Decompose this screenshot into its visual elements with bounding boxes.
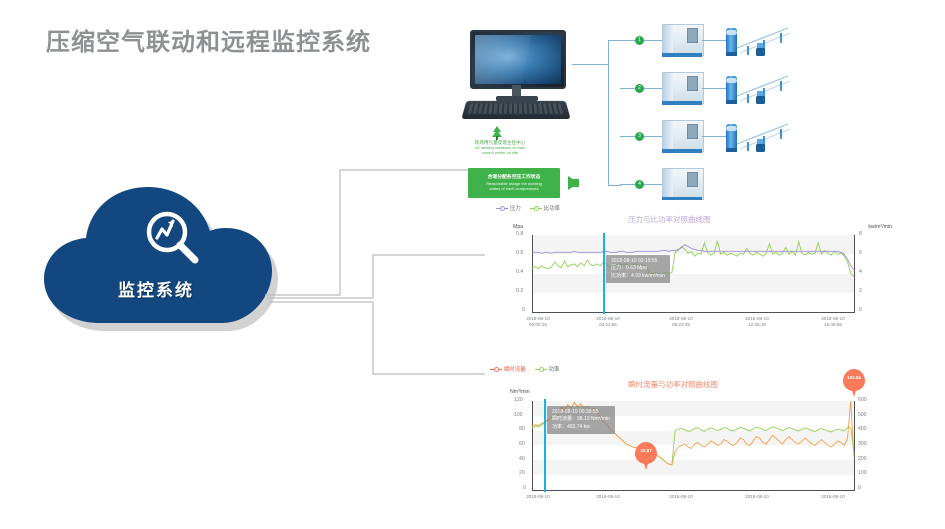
pressure-chart-legend[interactable]: 压力 比功率 <box>496 204 560 212</box>
page-title: 压缩空气联动和远程监控系统 <box>46 22 371 57</box>
flow-y2tick-300: 300 <box>858 441 867 447</box>
y2tick-0: 0 <box>859 307 862 313</box>
compressor-display-panel <box>687 28 698 43</box>
pressure-tooltip-line1: 压力：0.63 Mpa <box>611 265 665 272</box>
pressure-tooltip: 2018-08-10 02:19:55 压力：0.63 Mpa 比功率：4.99… <box>606 255 670 283</box>
monitor-screen-content <box>475 35 561 84</box>
flow-ytick-80: 80 <box>519 426 525 432</box>
xtick-1-time: 04:11:55 <box>578 322 638 328</box>
pipeline-network-1 <box>726 22 800 62</box>
y2tick-2: 2 <box>859 288 862 294</box>
xtick-3: 2018-08-10 12:35:15 <box>727 316 787 328</box>
monitor-caption: 现场用气量反馈主控中心 Air delivery feedback of mai… <box>448 140 552 155</box>
node-3: 3 <box>635 132 644 141</box>
pressure-y2-axis-unit: kw/m³/min <box>868 224 892 230</box>
compressor-1 <box>662 24 702 57</box>
flow-marker-min[interactable]: 33.87 <box>635 442 657 470</box>
marker-bubble <box>635 442 657 464</box>
pressure-chart[interactable]: 压力 比功率 压力与比功率对照曲线图 Mpa kw/m³/min 0.8 0.6… <box>488 200 888 335</box>
distribution-bus <box>608 40 621 186</box>
xtick-4-time: 16:46:55 <box>803 322 863 328</box>
flow-cursor-line[interactable] <box>544 399 546 492</box>
legend-item-power[interactable]: 功率 <box>535 365 560 373</box>
monitor-bus-link <box>572 64 609 65</box>
legend-item-specific-power[interactable]: 比功率 <box>530 204 560 212</box>
flow-chart-legend[interactable]: 瞬时流量 功率 <box>490 365 559 373</box>
legend-label-specific-power: 比功率 <box>544 204 560 212</box>
assignment-callout-en-2: states of each compressors <box>490 186 539 191</box>
ytick-0-4: 0.4 <box>516 269 523 275</box>
ytick-0-8: 0.8 <box>516 231 523 237</box>
tree-icon <box>491 126 503 140</box>
flow-marker-max[interactable]: 130.55 <box>843 369 865 397</box>
compressor-tank-link-3 <box>702 136 726 137</box>
flow-y-axis-unit: Nm³/min <box>510 389 530 395</box>
cloud-label: 监控系统 <box>38 276 274 301</box>
compressor-tank-link-1 <box>702 40 726 41</box>
flow-xtick-3: 2018-08-10 <box>727 494 787 500</box>
compressor-side-panel <box>663 73 673 101</box>
compressor-side-panel <box>663 121 673 149</box>
flow-xtick-2: 2018-08-10 <box>651 494 711 500</box>
flow-chart[interactable]: 瞬时流量 功率 瞬时流量与功率对照曲线图 Nm³/min 120 100 80 … <box>488 363 888 529</box>
flow-tooltip-line1: 瞬时流量：98.13 Nm³/min <box>552 416 610 423</box>
keyboard <box>461 101 570 119</box>
flow-xtick-4: 2018-08-10 <box>803 494 863 500</box>
compressor-4 <box>662 168 702 201</box>
node-4: 4 <box>635 180 644 189</box>
flow-ytick-120: 120 <box>514 397 523 403</box>
flow-y2tick-600: 600 <box>858 397 867 403</box>
legend-marker-pressure <box>496 205 508 211</box>
compressor-side-panel <box>663 169 673 197</box>
xtick-2-time: 08:23:35 <box>651 322 711 328</box>
pressure-tooltip-line2: 比功率：4.99 kw/m³/min <box>611 273 665 280</box>
flow-y2tick-400: 400 <box>858 426 867 432</box>
flow-y2tick-100: 100 <box>858 470 867 476</box>
flow-y2tick-200: 200 <box>858 456 867 462</box>
flow-ytick-0: 0 <box>523 485 526 491</box>
assignment-callout-box: 合理分配各空压工作状态 Reasonable assign the workin… <box>468 168 560 198</box>
monitoring-cloud[interactable]: 监控系统 <box>38 183 290 335</box>
xtick-2: 2018-08-10 08:23:35 <box>651 316 711 328</box>
legend-item-instant-flow[interactable]: 瞬时流量 <box>490 365 526 373</box>
legend-marker-instant-flow <box>490 366 502 372</box>
legend-label-instant-flow: 瞬时流量 <box>504 365 526 373</box>
tank-group-1 <box>726 22 800 62</box>
flow-chart-title: 瞬时流量与功率对照曲线图 <box>628 379 718 390</box>
monitor-caption-en-2: control center on site <box>448 151 552 156</box>
xtick-1: 2018-08-10 04:11:55 <box>578 316 638 328</box>
y2tick-8: 8 <box>859 231 862 237</box>
green-arrow-icon <box>568 176 579 190</box>
y2tick-6: 6 <box>859 250 862 256</box>
xtick-3-time: 12:35:15 <box>727 322 787 328</box>
legend-label-power: 功率 <box>549 365 560 373</box>
node-2: 2 <box>635 84 644 93</box>
pressure-y-axis-unit: Mpa <box>513 224 523 230</box>
flow-y2tick-500: 500 <box>858 412 867 418</box>
compressor-base <box>662 53 702 57</box>
pipeline-network-2 <box>726 70 800 110</box>
legend-label-pressure: 压力 <box>510 204 521 212</box>
flow-ytick-100: 100 <box>514 412 523 418</box>
monitor-screen <box>470 30 566 89</box>
legend-marker-specific-power <box>530 205 542 211</box>
magnifier-chart-icon <box>143 208 205 270</box>
flow-tooltip-line2: 功率：493.74 kw <box>552 424 610 431</box>
compressor-display-panel <box>687 172 698 187</box>
compressor-display-panel <box>687 76 698 91</box>
control-center-monitor <box>460 30 572 122</box>
pipeline-network-3 <box>726 118 800 158</box>
legend-item-pressure[interactable]: 压力 <box>496 204 521 212</box>
xtick-4: 2018-08-10 16:46:55 <box>803 316 863 328</box>
flow-xtick-0: 2018-08-10 <box>508 494 568 500</box>
ytick-0-2: 0.2 <box>516 288 523 294</box>
marker-min-label: 33.87 <box>635 448 657 453</box>
flow-ytick-20: 20 <box>519 470 525 476</box>
marker-max-label: 130.55 <box>843 375 865 380</box>
system-topology-diagram: 现场用气量反馈主控中心 Air delivery feedback of mai… <box>440 18 945 198</box>
ytick-0: 0 <box>522 307 525 313</box>
compressor-base <box>662 149 702 153</box>
ytick-0-6: 0.6 <box>516 250 523 256</box>
tank-group-2 <box>726 70 800 110</box>
flow-ytick-60: 60 <box>519 441 525 447</box>
compressor-2 <box>662 72 702 105</box>
flow-xtick-1: 2018-08-10 <box>578 494 638 500</box>
xtick-0-time: 00:00:15 <box>508 322 568 328</box>
flow-y2tick-0: 0 <box>858 485 861 491</box>
flow-tooltip: 2018-08-10 00:38:55 瞬时流量：98.13 Nm³/min 功… <box>547 406 615 434</box>
pressure-chart-title: 压力与比功率对照曲线图 <box>628 214 711 225</box>
compressor-base <box>662 101 702 105</box>
pressure-series-plot <box>532 235 854 312</box>
y2tick-4: 4 <box>859 269 862 275</box>
compressor-display-panel <box>687 124 698 139</box>
slide-canvas: 压缩空气联动和远程监控系统 监控系统 <box>0 0 945 529</box>
marker-bubble <box>843 369 865 391</box>
node-1: 1 <box>635 36 644 45</box>
compressor-side-panel <box>663 25 673 53</box>
legend-marker-power <box>535 366 547 372</box>
compressor-tank-link-2 <box>702 88 726 89</box>
tank-group-3 <box>726 118 800 158</box>
pressure-cursor-line[interactable] <box>603 233 605 314</box>
compressor-3 <box>662 120 702 153</box>
xtick-0: 2018-08-10 00:00:15 <box>508 316 568 328</box>
flow-ytick-40: 40 <box>519 456 525 462</box>
